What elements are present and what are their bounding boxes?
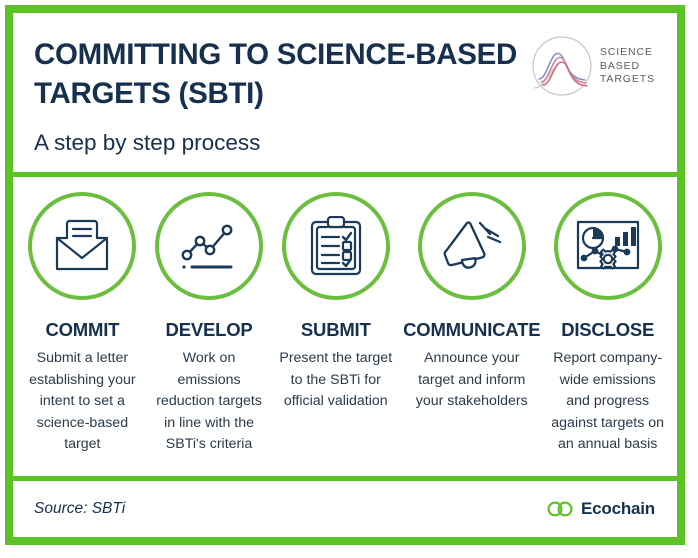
megaphone-icon: [440, 217, 504, 275]
step-develop: DEVELOP Work on emissions reduction targ…: [146, 192, 273, 476]
steps-row: COMMIT Submit a letter establishing your…: [13, 177, 677, 481]
step-commit: COMMIT Submit a letter establishing your…: [19, 192, 146, 476]
page-title: COMMITTING TO SCIENCE-BASED TARGETS (SBT…: [34, 35, 539, 113]
clipboard-checklist-icon: [308, 216, 364, 276]
step-title: DEVELOP: [166, 319, 253, 341]
envelope-letter-icon: [51, 217, 113, 275]
sbti-word-line-1: SCIENCE: [600, 47, 655, 58]
step-icon-ring: [282, 192, 390, 300]
step-submit: SUBMIT Present the target to the SBTi fo…: [272, 192, 399, 476]
step-description: Submit a letter establishing your intent…: [23, 348, 142, 456]
footer: Source: SBTi Ecochain: [13, 481, 677, 537]
dashboard-report-icon: [575, 218, 641, 274]
step-icon-ring: [418, 192, 526, 300]
ecochain-infinity-icon: [546, 501, 574, 517]
sbti-logo: SCIENCE BASED TARGETS: [531, 35, 655, 97]
sbti-word-line-3: TARGETS: [600, 74, 655, 85]
sbti-circle-mark: [531, 35, 593, 97]
sbti-wordmark: SCIENCE BASED TARGETS: [600, 47, 655, 85]
step-title: DISCLOSE: [561, 319, 654, 341]
step-title: COMMUNICATE: [403, 319, 540, 341]
step-description: Present the target to the SBTi for offic…: [276, 348, 395, 413]
sbti-word-line-2: BASED: [600, 61, 655, 72]
step-title: SUBMIT: [301, 319, 371, 341]
step-icon-ring: [554, 192, 662, 300]
source-label: Source: SBTi: [34, 500, 125, 518]
ecochain-brand: Ecochain: [546, 499, 655, 519]
step-description: Announce your target and inform your sta…: [409, 348, 535, 413]
step-disclose: DISCLOSE Report company-wide emissions a…: [544, 192, 671, 476]
step-communicate: COMMUNICATE Announce your target and inf…: [399, 192, 544, 476]
step-description: Report company-wide emissions and progre…: [548, 348, 667, 456]
step-icon-ring: [28, 192, 136, 300]
infographic-frame: COMMITTING TO SCIENCE-BASED TARGETS (SBT…: [5, 5, 685, 545]
line-chart-icon: [178, 217, 240, 275]
step-title: COMMIT: [45, 319, 119, 341]
step-description: Work on emissions reduction targets in l…: [150, 348, 269, 456]
page-subtitle: A step by step process: [34, 131, 677, 156]
step-icon-ring: [155, 192, 263, 300]
header: COMMITTING TO SCIENCE-BASED TARGETS (SBT…: [13, 13, 677, 177]
ecochain-wordmark: Ecochain: [581, 499, 655, 519]
